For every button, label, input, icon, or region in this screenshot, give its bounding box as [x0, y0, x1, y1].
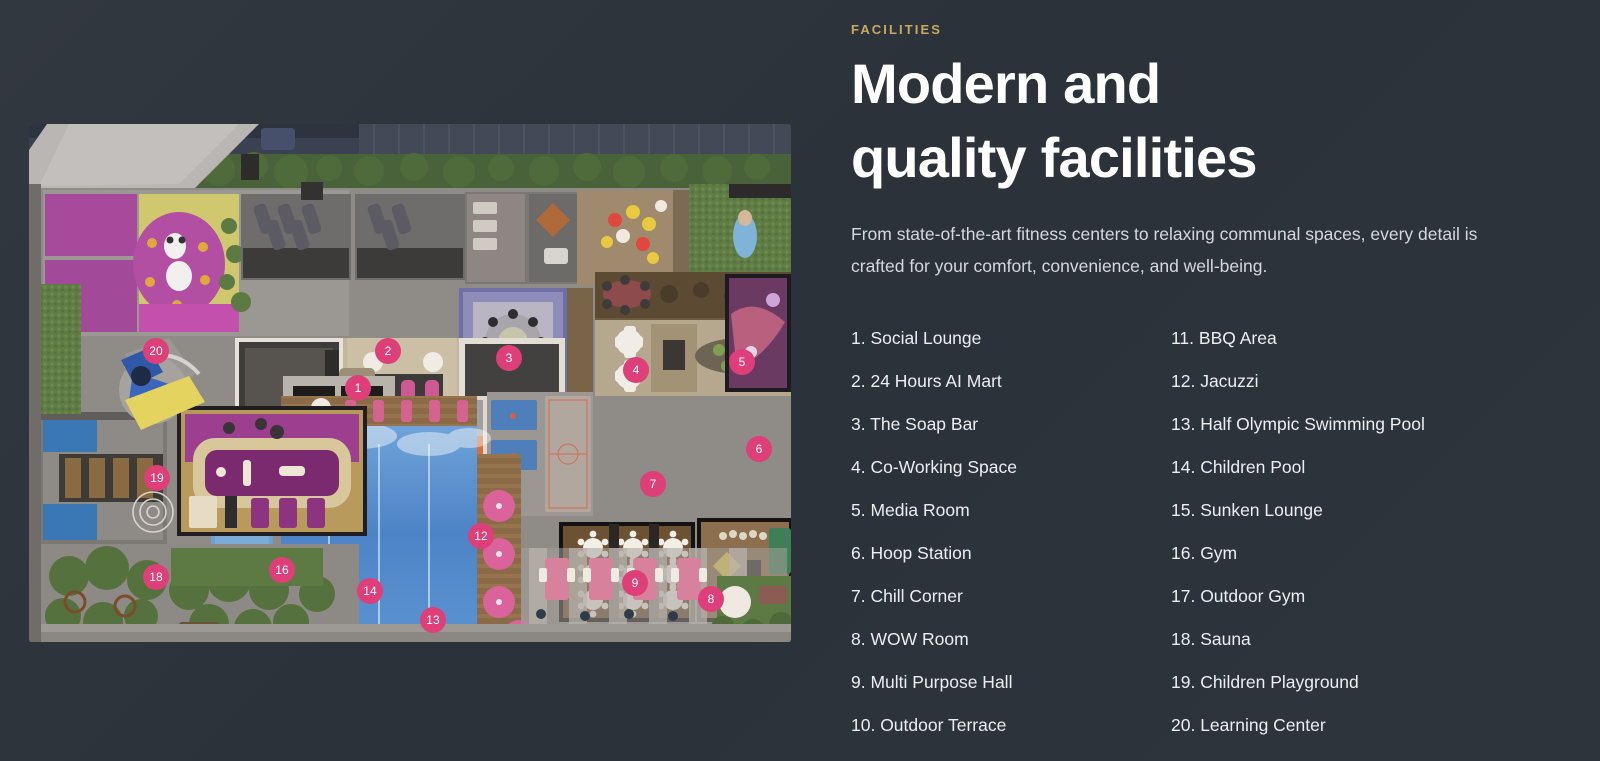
map-marker-label: 12	[474, 530, 488, 542]
list-item[interactable]: 8. WOW Room	[851, 618, 1171, 661]
map-marker[interactable]: 6	[746, 436, 772, 462]
map-marker[interactable]: 16	[269, 557, 295, 583]
facilities-section: 1 2 3 4 5 6 7 8 9 10 11 12 13 14 15 16 1…	[0, 0, 1600, 761]
map-marker-label: 19	[150, 472, 164, 484]
map-marker-label: 4	[633, 364, 640, 376]
map-marker[interactable]: 20	[143, 338, 169, 364]
floorplan-markers: 1 2 3 4 5 6 7 8 9 10 11 12 13 14 15 16 1…	[29, 124, 791, 642]
map-marker[interactable]: 13	[420, 607, 446, 633]
map-marker-label: 18	[149, 571, 163, 583]
list-item[interactable]: 16. Gym	[1171, 532, 1551, 575]
section-description: From state-of-the-art fitness centers to…	[851, 218, 1491, 283]
map-marker-label: 3	[506, 352, 513, 364]
map-marker-label: 6	[756, 443, 763, 455]
list-item[interactable]: 11. BBQ Area	[1171, 317, 1551, 360]
map-marker-label: 20	[149, 345, 163, 357]
map-marker[interactable]: 14	[357, 578, 383, 604]
list-item[interactable]: 9. Multi Purpose Hall	[851, 661, 1171, 704]
map-marker[interactable]: 7	[640, 471, 666, 497]
map-marker[interactable]: 1	[345, 375, 371, 401]
map-marker-label: 1	[355, 382, 362, 394]
facilities-column-right: 11. BBQ Area 12. Jacuzzi 13. Half Olympi…	[1171, 317, 1551, 747]
map-marker-label: 13	[426, 614, 440, 626]
list-item[interactable]: 3. The Soap Bar	[851, 403, 1171, 446]
page-title: Modern and quality facilities	[851, 47, 1551, 196]
list-item[interactable]: 7. Chill Corner	[851, 575, 1171, 618]
list-item[interactable]: 17. Outdoor Gym	[1171, 575, 1551, 618]
map-marker[interactable]: 12	[468, 523, 494, 549]
list-item[interactable]: 2. 24 Hours AI Mart	[851, 360, 1171, 403]
floorplan-image[interactable]: 1 2 3 4 5 6 7 8 9 10 11 12 13 14 15 16 1…	[29, 124, 791, 642]
list-item[interactable]: 6. Hoop Station	[851, 532, 1171, 575]
list-item[interactable]: 5. Media Room	[851, 489, 1171, 532]
list-item[interactable]: 20. Learning Center	[1171, 704, 1551, 747]
map-marker-label: 2	[385, 345, 392, 357]
map-marker[interactable]: 3	[496, 345, 522, 371]
map-marker-label: 8	[708, 593, 715, 605]
map-marker[interactable]: 4	[623, 357, 649, 383]
map-marker[interactable]: 19	[144, 465, 170, 491]
section-eyebrow: FACILITIES	[851, 22, 1551, 37]
headline-line-1: Modern and	[851, 52, 1160, 115]
headline-line-2: quality facilities	[851, 126, 1257, 189]
map-marker[interactable]: 5	[729, 349, 755, 375]
map-marker-label: 5	[739, 356, 746, 368]
map-marker-label: 9	[632, 577, 639, 589]
map-marker[interactable]: 18	[143, 564, 169, 590]
map-marker[interactable]: 2	[375, 338, 401, 364]
facilities-column-left: 1. Social Lounge 2. 24 Hours AI Mart 3. …	[851, 317, 1171, 747]
facilities-list: 1. Social Lounge 2. 24 Hours AI Mart 3. …	[851, 317, 1551, 747]
map-marker[interactable]: 8	[698, 586, 724, 612]
list-item[interactable]: 15. Sunken Lounge	[1171, 489, 1551, 532]
facilities-content: FACILITIES Modern and quality facilities…	[851, 22, 1551, 747]
list-item[interactable]: 12. Jacuzzi	[1171, 360, 1551, 403]
list-item[interactable]: 4. Co-Working Space	[851, 446, 1171, 489]
map-marker-label: 14	[363, 585, 377, 597]
map-marker[interactable]: 9	[622, 570, 648, 596]
map-marker-label: 7	[650, 478, 657, 490]
list-item[interactable]: 18. Sauna	[1171, 618, 1551, 661]
list-item[interactable]: 19. Children Playground	[1171, 661, 1551, 704]
list-item[interactable]: 14. Children Pool	[1171, 446, 1551, 489]
list-item[interactable]: 1. Social Lounge	[851, 317, 1171, 360]
map-marker-label: 16	[275, 564, 289, 576]
list-item[interactable]: 13. Half Olympic Swimming Pool	[1171, 403, 1551, 446]
list-item[interactable]: 10. Outdoor Terrace	[851, 704, 1171, 747]
